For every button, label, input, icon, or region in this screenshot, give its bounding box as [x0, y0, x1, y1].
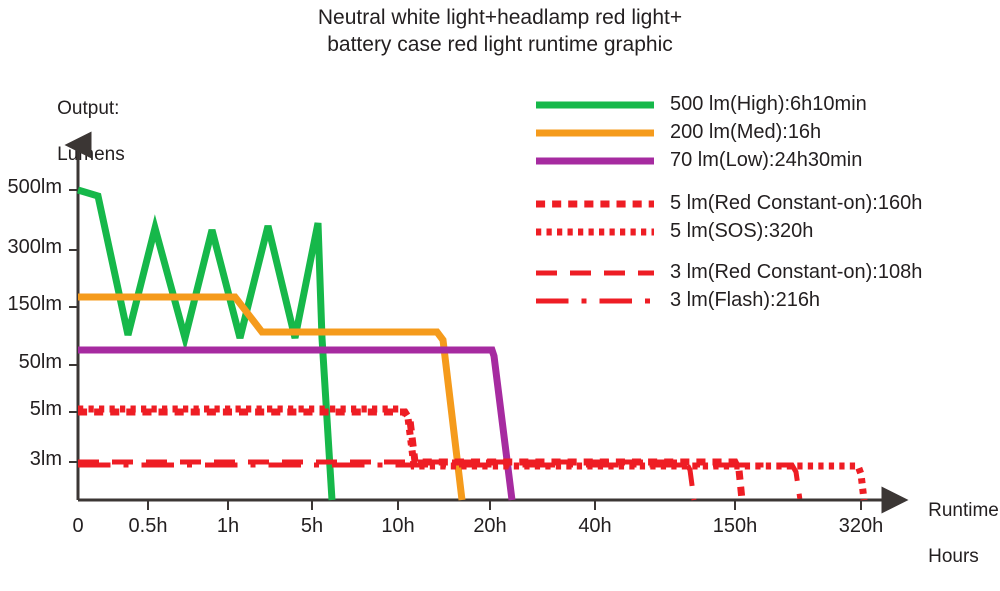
legend-label-2: 70 lm(Low):24h30min	[670, 149, 862, 172]
legend-label-6: 3 lm(Flash):216h	[670, 289, 820, 312]
legend-swatch-2	[536, 151, 654, 171]
y-tick-label-2: 150lm	[0, 293, 62, 316]
legend-label-3: 5 lm(Red Constant-on):160h	[670, 192, 922, 215]
x-axis-caption-line-2: Hours	[928, 546, 979, 567]
legend-item-4: 5 lm(SOS):320h	[536, 219, 966, 244]
legend-item-2: 70 lm(Low):24h30min	[536, 148, 966, 173]
y-tick-label-5: 3lm	[0, 448, 62, 471]
legend-item-0: 500 lm(High):6h10min	[536, 92, 966, 117]
runtime-chart: Neutral white light+headlamp red light+ …	[0, 0, 1000, 539]
legend-item-6: 3 lm(Flash):216h	[536, 288, 966, 313]
y-tick-label-3: 50lm	[0, 351, 62, 374]
x-tick-label-6: 40h	[550, 515, 640, 538]
x-tick-label-1: 0.5h	[103, 515, 193, 538]
x-tick-label-3: 5h	[267, 515, 357, 538]
legend-label-5: 3 lm(Red Constant-on):108h	[670, 261, 922, 284]
chart-legend: 500 lm(High):6h10min200 lm(Med):16h70 lm…	[536, 92, 966, 316]
y-tick-label-1: 300lm	[0, 236, 62, 259]
legend-swatch-5	[536, 263, 654, 283]
series-line-1	[78, 297, 462, 500]
legend-swatch-3	[536, 194, 654, 214]
legend-item-1: 200 lm(Med):16h	[536, 120, 966, 145]
legend-label-4: 5 lm(SOS):320h	[670, 220, 813, 243]
legend-swatch-1	[536, 123, 654, 143]
x-tick-label-7: 150h	[690, 515, 780, 538]
legend-swatch-4	[536, 222, 654, 242]
x-tick-label-5: 20h	[445, 515, 535, 538]
series-line-3	[78, 412, 742, 500]
x-tick-label-2: 1h	[183, 515, 273, 538]
series-line-0	[78, 190, 332, 500]
legend-swatch-6	[536, 291, 654, 311]
legend-label-0: 500 lm(High):6h10min	[670, 93, 867, 116]
legend-label-1: 200 lm(Med):16h	[670, 121, 821, 144]
y-tick-label-4: 5lm	[0, 398, 62, 421]
legend-item-3: 5 lm(Red Constant-on):160h	[536, 191, 966, 216]
x-tick-label-8: 320h	[816, 515, 906, 538]
legend-item-5: 3 lm(Red Constant-on):108h	[536, 260, 966, 285]
series-line-4	[78, 409, 864, 500]
legend-swatch-0	[536, 95, 654, 115]
y-tick-label-0: 500lm	[0, 176, 62, 199]
x-tick-label-4: 10h	[353, 515, 443, 538]
